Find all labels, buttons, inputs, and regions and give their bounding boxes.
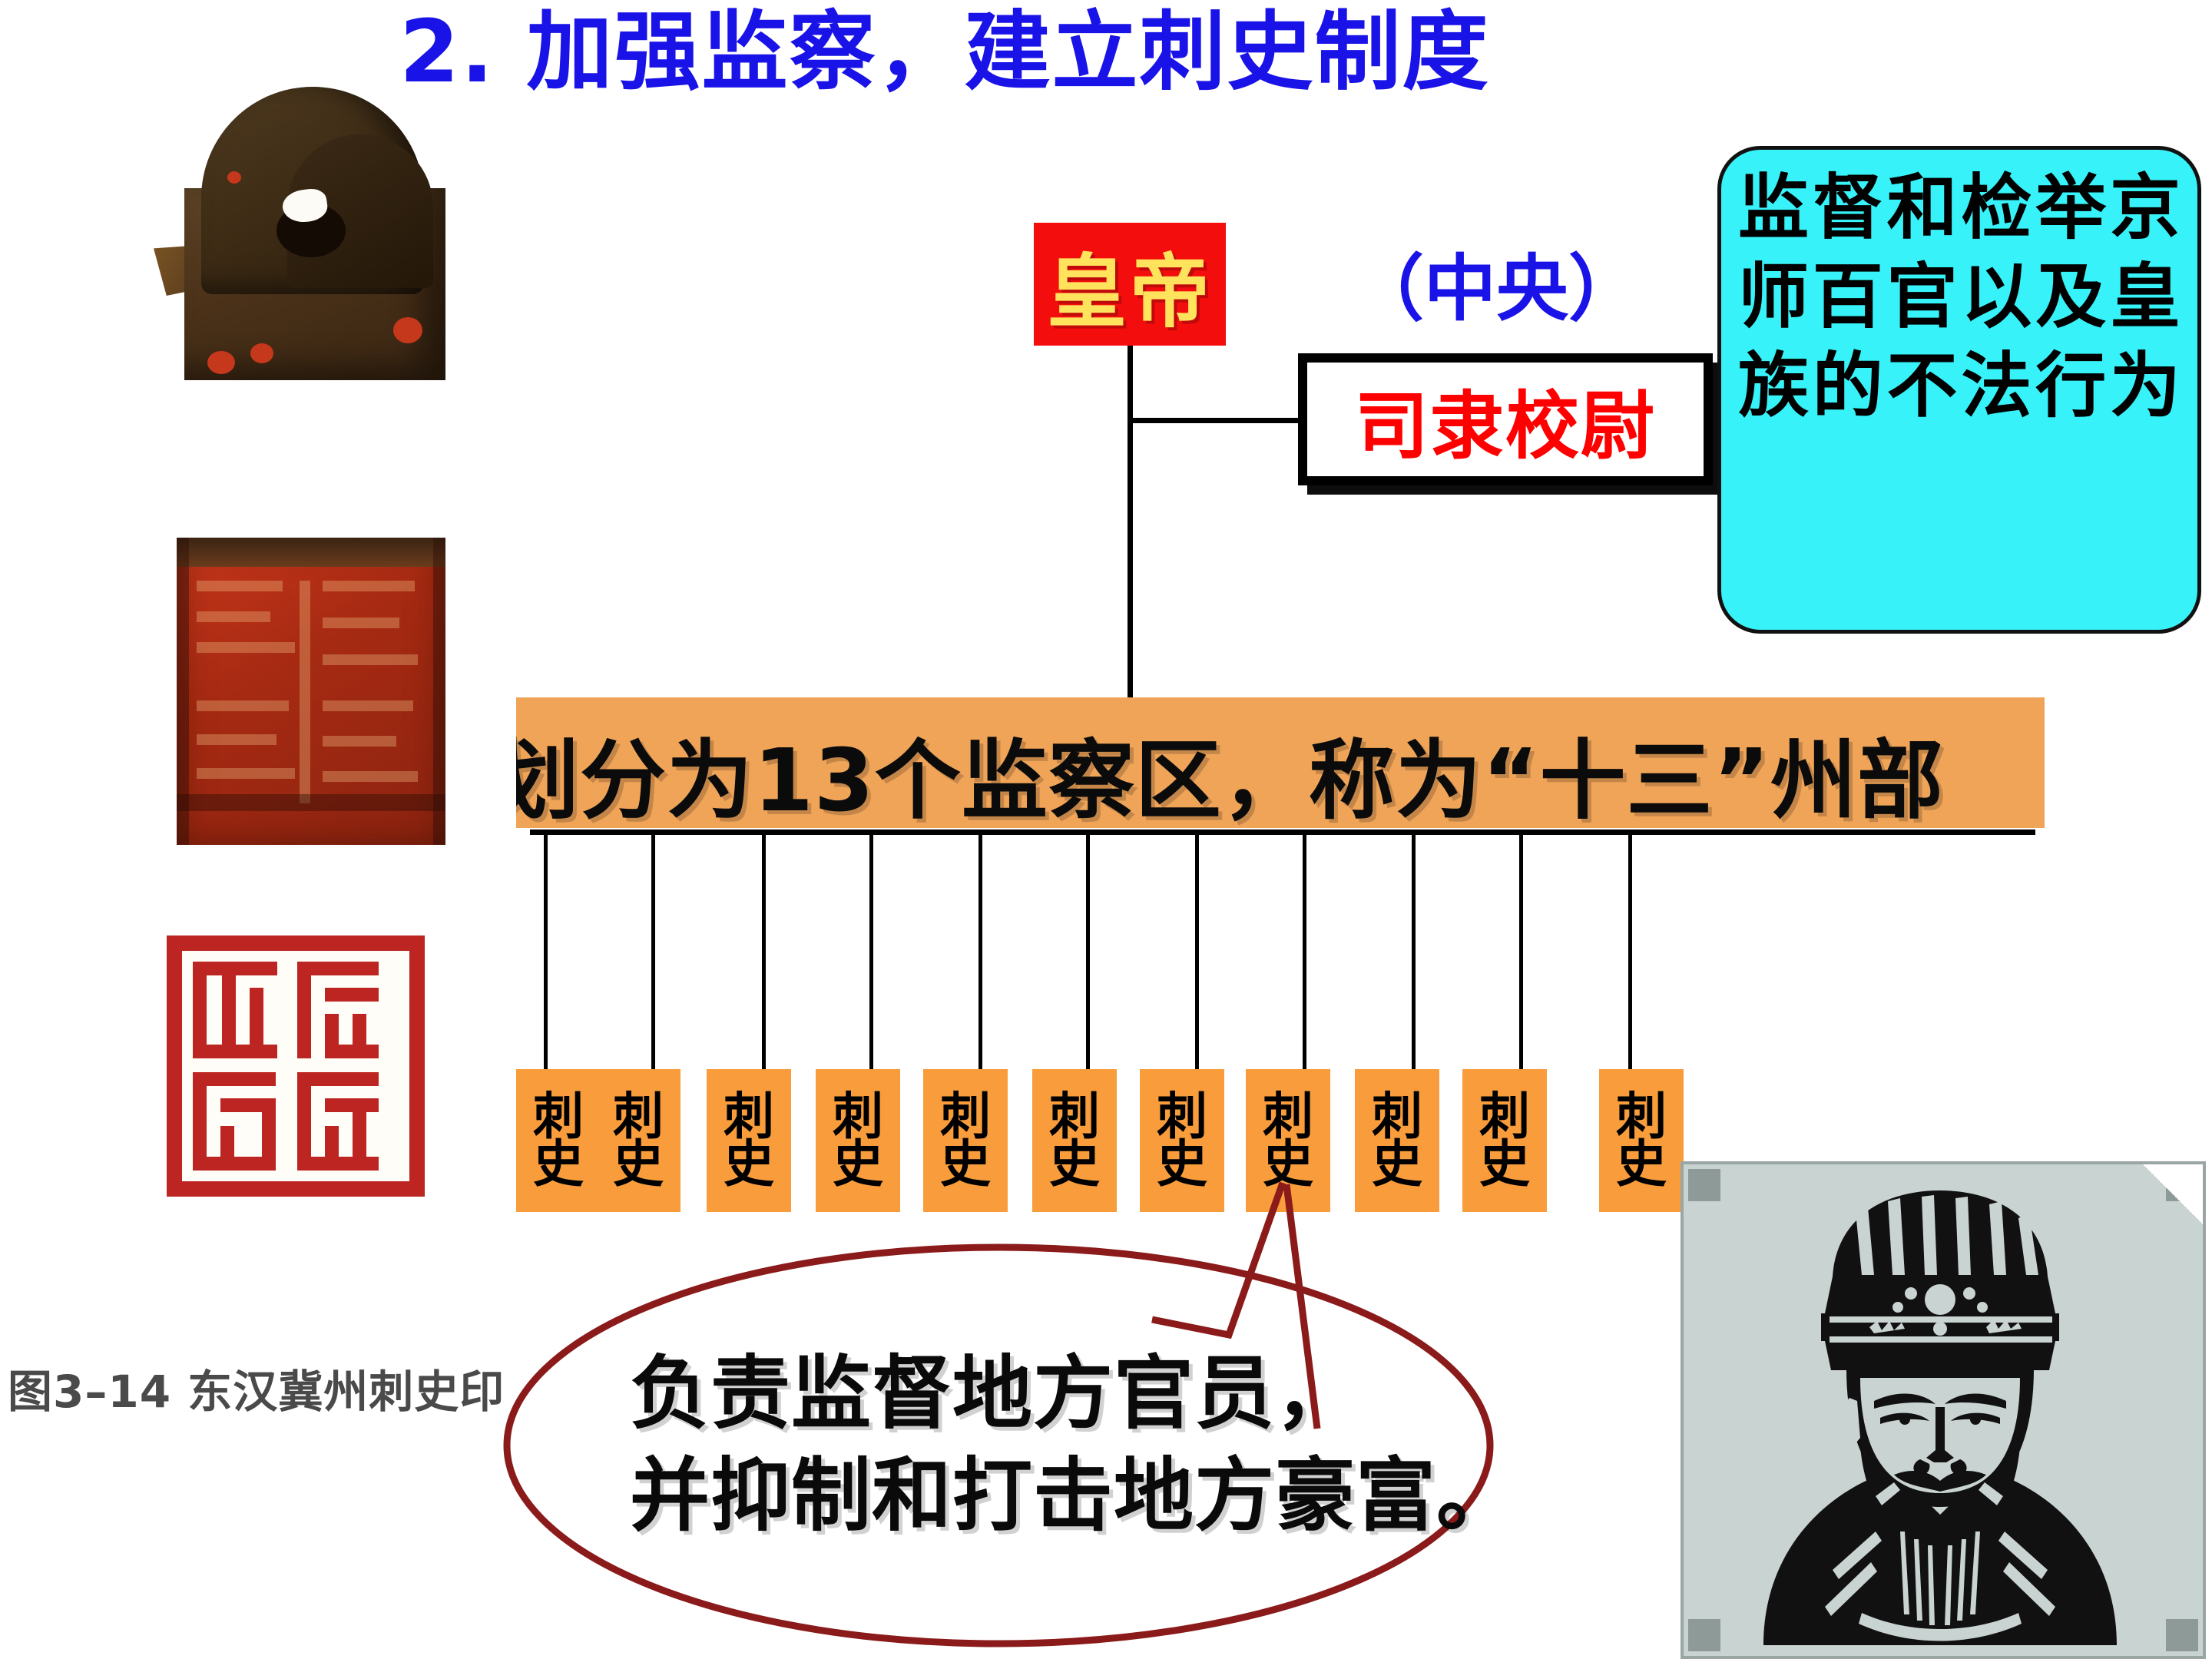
cishi-connector <box>1086 829 1090 1069</box>
cishi-char-1: 刺 <box>613 1093 664 1141</box>
portrait-illustration-icon <box>1717 1177 2163 1645</box>
emperor-portrait <box>1681 1161 2206 1659</box>
cishi-connector <box>1195 829 1199 1069</box>
seal-rust-spot <box>250 343 273 363</box>
sili-xiaowei-node: 司隶校尉 <box>1298 353 1713 485</box>
cishi-connector <box>979 829 982 1069</box>
cishi-char-1: 刺 <box>1263 1093 1313 1141</box>
cishi-connector <box>1628 829 1632 1069</box>
central-government-label: （中央） <box>1352 230 1682 335</box>
seal-rust-spot <box>207 351 235 374</box>
seal-face-top-edge <box>177 538 445 567</box>
callout-line-1: 负责监督地方官员， <box>630 1343 1521 1445</box>
cishi-char-2: 史 <box>1616 1141 1667 1188</box>
cishi-connector <box>1519 829 1523 1069</box>
cishi-char-1: 刺 <box>1372 1093 1422 1141</box>
cishi-row: 刺史刺史刺史刺史刺史刺史刺史刺史刺史刺史刺史 <box>516 829 2060 1160</box>
sili-duty-note: 监督和检举京师百官以及皇族的不法行为 <box>1717 146 2201 634</box>
callout-text: 负责监督地方官员， 并抑制和打击地方豪富。 <box>630 1343 1521 1547</box>
connector-emperor-to-sili <box>1128 418 1306 423</box>
cishi-connector <box>869 829 873 1069</box>
region-banner: 划分为13个监察区，称为“十三”州部 <box>516 697 2045 828</box>
seal-stamp-border <box>167 935 425 1197</box>
seal-rust-spot <box>393 317 422 343</box>
cishi-connector <box>762 829 766 1069</box>
cishi-connector <box>1412 829 1416 1069</box>
cishi-char-1: 刺 <box>833 1093 883 1141</box>
cishi-char-1: 刺 <box>940 1093 991 1141</box>
seal-stamp-photo <box>150 914 411 1221</box>
cishi-char-1: 刺 <box>1479 1093 1530 1141</box>
seal-rust-spot <box>227 171 241 184</box>
cishi-char-1: 刺 <box>1049 1093 1100 1141</box>
seal-face-photo <box>177 538 445 845</box>
cishi-char-1: 刺 <box>1616 1093 1667 1141</box>
connector-emperor-to-regions <box>1128 344 1133 699</box>
cishi-char-1: 刺 <box>533 1093 584 1141</box>
cishi-connector <box>544 829 548 1069</box>
cishi-connector <box>651 829 655 1069</box>
callout-line-2: 并抑制和打击地方豪富。 <box>630 1445 1521 1547</box>
page-title: 2. 加强监察，建立刺史制度 <box>399 6 1797 99</box>
cishi-duty-callout: 负责监督地方官员， 并抑制和打击地方豪富。 <box>492 1175 1613 1651</box>
cishi-char-1: 刺 <box>1157 1093 1207 1141</box>
cishi-char-1: 刺 <box>724 1093 774 1141</box>
figure-caption: 图3–14 东汉冀州刺史印 <box>8 1356 499 1420</box>
seal-bronze-photo <box>154 73 476 403</box>
cishi-connector <box>1303 829 1306 1069</box>
emperor-node: 皇帝 <box>1034 223 1226 346</box>
region-banner-text: 划分为13个监察区，称为“十三”州部 <box>516 711 2045 828</box>
